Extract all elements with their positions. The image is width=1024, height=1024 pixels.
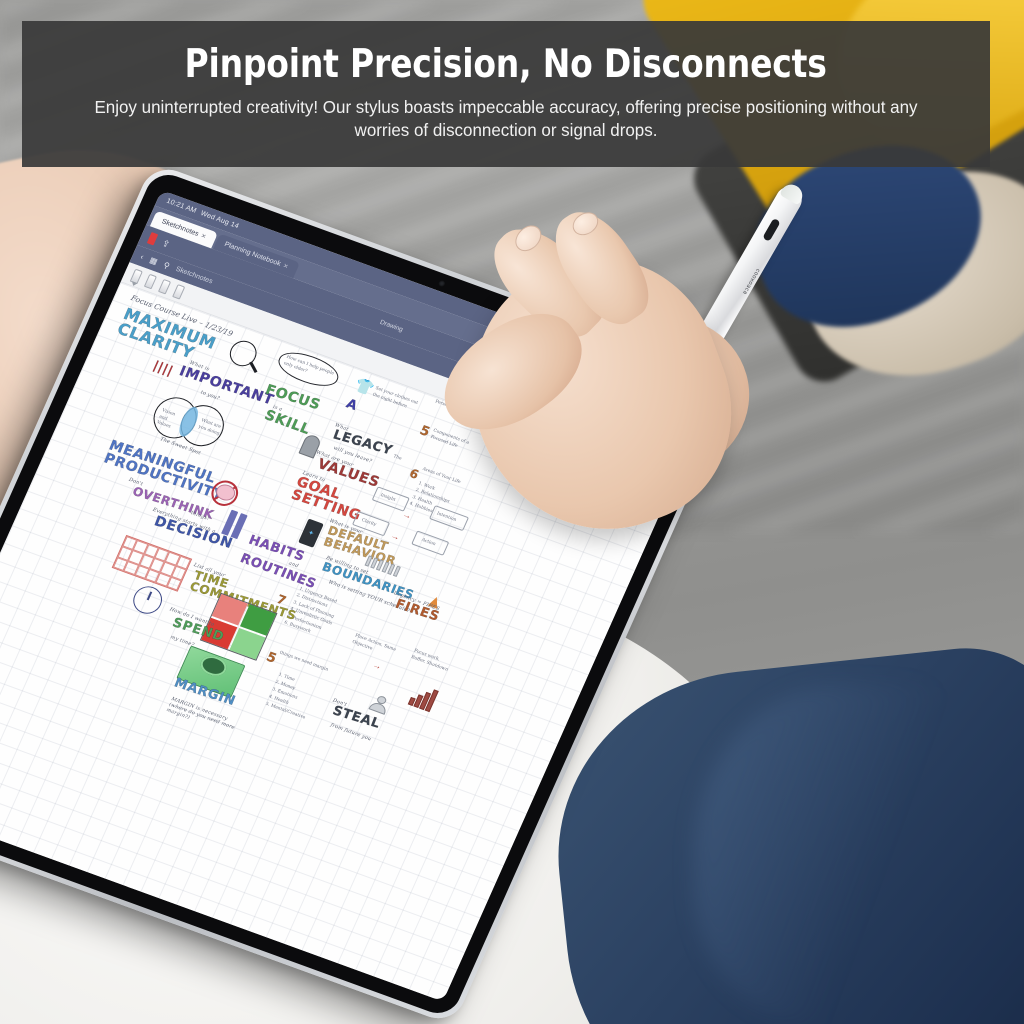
speech-bubble-icon[interactable]: ◯ [651, 416, 665, 430]
arrow-icon: → [371, 659, 384, 671]
eraser-tool-icon[interactable] [158, 278, 171, 294]
minimize-icon[interactable]: – [692, 405, 701, 416]
close-tab-icon[interactable]: × [680, 401, 689, 412]
color-swatch-green[interactable] [646, 458, 658, 469]
battery-icon [689, 389, 704, 399]
close-icon[interactable]: ✕ [200, 232, 208, 240]
redo-icon[interactable]: ↷ [652, 390, 664, 403]
annotation-text: Components of a Focused Life [429, 428, 483, 458]
highlighter-tool-icon[interactable] [144, 273, 157, 289]
image-icon[interactable]: ❑ [623, 406, 635, 419]
page-title: Pinpoint Precision, No Disconnects [185, 42, 827, 87]
close-icon[interactable]: ✕ [282, 262, 290, 270]
arrow-icon: → [389, 530, 402, 542]
list-text: 1. Time 2. Money 3. Emotions 4. Health 5… [264, 672, 339, 729]
annotation-text: Focus work, Buffer, Shutdown [410, 649, 453, 675]
color-swatch-white[interactable] [660, 463, 672, 474]
toolbar-label: Drawing [379, 318, 404, 333]
chevron-left-icon[interactable]: ‹ [139, 252, 145, 261]
magnifier-icon [226, 337, 261, 370]
fleece-fold [694, 684, 994, 1024]
marker-tool-icon[interactable] [172, 284, 185, 300]
person-icon [368, 694, 391, 715]
calendar-icon [112, 535, 193, 592]
magnifier-handle-icon [250, 361, 258, 372]
phone-icon [298, 519, 324, 548]
search-icon[interactable]: ⚲ [162, 260, 171, 270]
heading-skill: SKILL [262, 408, 312, 437]
share-icon[interactable]: ⇪ [160, 237, 172, 250]
annotation-text: things we need margin [278, 651, 335, 677]
heading-decision: DECISION [152, 514, 234, 551]
undo-icon[interactable]: ↶ [638, 385, 650, 398]
shape-icon[interactable]: ⬟ [667, 422, 679, 435]
camera-icon[interactable]: ◎ [637, 411, 649, 424]
letter-a-icon: A [344, 397, 359, 413]
front-camera-icon [437, 280, 445, 288]
pen-tool-icon[interactable] [130, 268, 143, 284]
promo-banner: Pinpoint Precision, No Disconnects Enjoy… [22, 21, 990, 167]
columns-icon[interactable]: ‖ [682, 427, 690, 437]
text-icon[interactable]: T [612, 402, 621, 413]
arrow-icon: → [401, 509, 414, 521]
stairs-icon [408, 683, 439, 712]
new-tab-icon[interactable]: + [667, 396, 676, 407]
annotation-text: The [392, 454, 423, 470]
banner-subtext: Enjoy uninterrupted creativity! Our styl… [79, 96, 933, 142]
annotation-text: Set your clothes out the night before [371, 386, 423, 415]
wifi-icon: ▾ [681, 385, 688, 394]
heading-important: IMPORTANT [177, 364, 275, 407]
color-swatch-black[interactable] [632, 453, 644, 464]
number-five-b: 5 [264, 651, 278, 666]
grid-icon[interactable]: ▦ [148, 255, 159, 266]
bookmark-icon[interactable] [147, 232, 158, 245]
tally-marks-icon: |||| [151, 359, 175, 377]
